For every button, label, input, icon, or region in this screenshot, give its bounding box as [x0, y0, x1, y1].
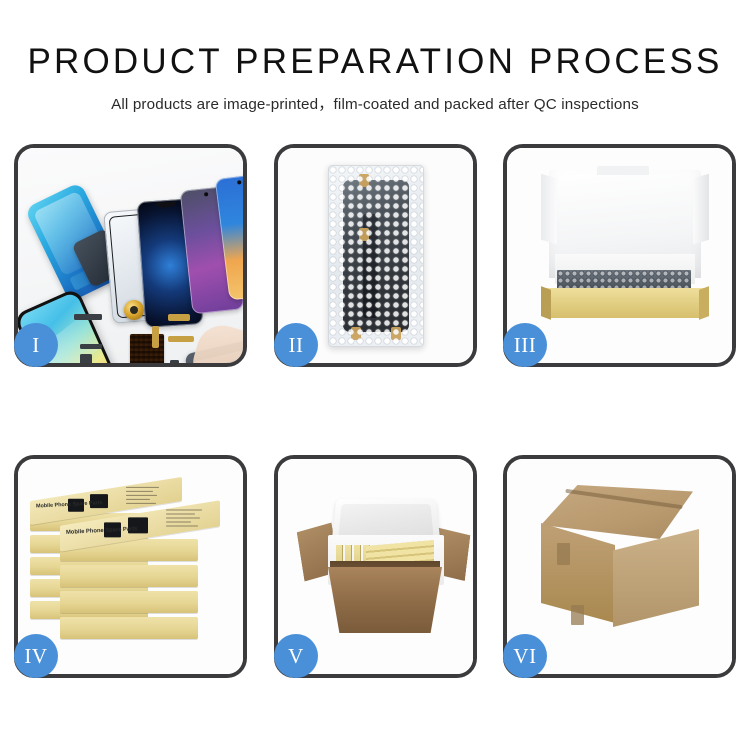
step-panel-5[interactable]: V [274, 455, 477, 678]
process-grid: I II [0, 0, 750, 750]
step-panel-3[interactable]: III [503, 144, 736, 367]
tape-tab-icon [359, 174, 369, 187]
step-badge-4: IV [14, 634, 58, 678]
bubble-wrap-bag-icon [328, 165, 424, 347]
carton-base-icon [545, 288, 705, 318]
retail-box-stack-icon: Mobile Phone Spare Parts Mobile [28, 483, 238, 653]
small-part-icon [170, 360, 179, 363]
step-badge-3: III [503, 323, 547, 367]
open-carton-icon [304, 481, 464, 641]
tape-tab-icon [359, 228, 369, 241]
step-badge-2: II [274, 323, 318, 367]
retail-box [60, 565, 198, 587]
gold-flex-cable-icon [168, 314, 190, 321]
carton-lid-tab-icon [597, 166, 649, 175]
retail-box [60, 617, 198, 639]
carton-tape-icon [571, 605, 584, 625]
earpiece-speaker-icon [74, 314, 102, 320]
carton-tape-icon [557, 543, 570, 565]
tape-tab-icon [351, 327, 361, 340]
carton-body-icon [328, 567, 442, 633]
step-badge-6: VI [503, 634, 547, 678]
step-panel-4[interactable]: Mobile Phone Spare Parts Mobile [14, 455, 247, 678]
retail-box [60, 591, 198, 613]
tape-tab-icon [391, 327, 401, 340]
vibration-motor-icon [124, 300, 144, 320]
carton-right-face-icon [613, 529, 699, 627]
pinhole-camera-icon [237, 180, 241, 184]
gold-flex-cable-icon [168, 336, 194, 342]
step-badge-5: V [274, 634, 318, 678]
step-badge-1: I [14, 323, 58, 367]
box-print-textblock [166, 510, 208, 530]
page-root: PRODUCT PREPARATION PROCESS All products… [0, 0, 750, 750]
step-panel-1[interactable]: I [14, 144, 247, 367]
pinhole-camera-icon [204, 192, 208, 196]
flex-connector-icon [80, 344, 102, 349]
inner-carton-icon [541, 170, 709, 320]
step-panel-6[interactable]: VI [503, 455, 736, 678]
notch-icon [156, 201, 176, 207]
box-label-text: Mobile Phone Spare Parts [66, 526, 138, 536]
sealed-carton-icon [525, 485, 707, 635]
flex-connector-icon [80, 354, 92, 363]
gold-flex-cable-icon [152, 326, 159, 348]
step-panel-2[interactable]: II [274, 144, 477, 367]
box-print-textblock [126, 487, 164, 507]
